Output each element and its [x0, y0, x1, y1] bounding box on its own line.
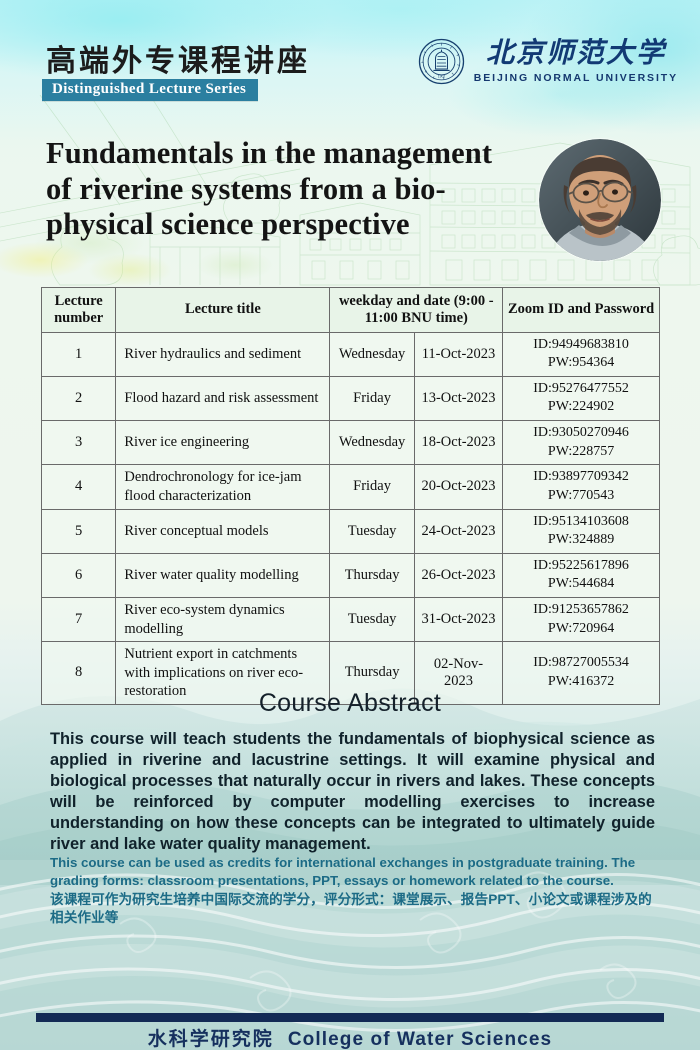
- poster-root: 高端外专课程讲座 Distinguished Lecture Series: [0, 0, 700, 1050]
- table-row: 7River eco-system dynamics modellingTues…: [42, 597, 660, 641]
- credits-english: This course can be used as credits for i…: [50, 855, 635, 888]
- zoom-password: PW:544684: [508, 575, 654, 594]
- college-name-chinese: 水科学研究院: [148, 1029, 274, 1050]
- cell-date: 26-Oct-2023: [414, 553, 502, 597]
- zoom-id: ID:95276477552: [533, 381, 629, 396]
- header-lecture-number: Lecture number: [42, 288, 116, 333]
- footer-divider-bar: [36, 1013, 664, 1022]
- cell-date: 18-Oct-2023: [414, 421, 502, 465]
- cell-weekday: Tuesday: [330, 509, 414, 553]
- cell-lecture-title: River water quality modelling: [116, 553, 330, 597]
- table-row: 4Dendrochronology for ice-jam flood char…: [42, 465, 660, 509]
- university-name: 北京师范大学 BEIJING NORMAL UNIVERSITY: [474, 40, 678, 84]
- cell-lecture-number: 6: [42, 553, 116, 597]
- zoom-id: ID:98727005534: [533, 655, 629, 670]
- zoom-password: PW:770543: [508, 487, 654, 506]
- zoom-id: ID:94949683810: [533, 337, 629, 352]
- table-head: Lecture number Lecture title weekday and…: [42, 288, 660, 333]
- zoom-password: PW:224902: [508, 398, 654, 417]
- title-line-2: of riverine systems from a bio-: [46, 172, 524, 208]
- college-name-english: College of Water Sciences: [288, 1029, 552, 1050]
- poster-header: 高端外专课程讲座 Distinguished Lecture Series: [0, 0, 700, 115]
- cell-weekday: Tuesday: [330, 597, 414, 641]
- table-body: 1River hydraulics and sedimentWednesday1…: [42, 332, 660, 704]
- lecture-schedule-table-wrapper: Lecture number Lecture title weekday and…: [41, 287, 660, 705]
- cell-date: 31-Oct-2023: [414, 597, 502, 641]
- cell-weekday: Wednesday: [330, 332, 414, 376]
- cell-zoom-credentials: ID:93897709342PW:770543: [503, 465, 660, 509]
- zoom-password: PW:954364: [508, 354, 654, 373]
- zoom-id: ID:91253657862: [533, 602, 629, 617]
- svg-text:1902: 1902: [437, 75, 445, 79]
- cell-zoom-credentials: ID:95225617896PW:544684: [503, 553, 660, 597]
- title-line-3: physical science perspective: [46, 207, 524, 243]
- zoom-password: PW:324889: [508, 531, 654, 550]
- table-row: 1River hydraulics and sedimentWednesday1…: [42, 332, 660, 376]
- zoom-id: ID:95225617896: [533, 558, 629, 573]
- table-row: 2Flood hazard and risk assessmentFriday1…: [42, 376, 660, 420]
- zoom-id: ID:93050270946: [533, 425, 629, 440]
- university-logo: 1902 北京师范大学 BEIJING NORMAL UNIVERSITY: [418, 38, 678, 85]
- cell-weekday: Friday: [330, 376, 414, 420]
- cell-lecture-title: River eco-system dynamics modelling: [116, 597, 330, 641]
- cell-date: 24-Oct-2023: [414, 509, 502, 553]
- cell-zoom-credentials: ID:94949683810PW:954364: [503, 332, 660, 376]
- university-name-chinese: 北京师范大学: [486, 40, 666, 68]
- cell-date: 20-Oct-2023: [414, 465, 502, 509]
- cell-lecture-title: River ice engineering: [116, 421, 330, 465]
- cell-zoom-credentials: ID:93050270946PW:228757: [503, 421, 660, 465]
- credits-chinese: 该课程可作为研究生培养中国际交流的学分，评分形式：课堂展示、报告PPT、小论文或…: [50, 891, 655, 927]
- university-name-english: BEIJING NORMAL UNIVERSITY: [474, 72, 678, 84]
- series-title-english-banner: Distinguished Lecture Series: [42, 79, 258, 101]
- zoom-password: PW:720964: [508, 620, 654, 639]
- cell-zoom-credentials: ID:91253657862PW:720964: [503, 597, 660, 641]
- lecture-main-title: Fundamentals in the management of riveri…: [46, 136, 524, 243]
- header-lecture-title: Lecture title: [116, 288, 330, 333]
- cell-weekday: Friday: [330, 465, 414, 509]
- cell-weekday: Thursday: [330, 553, 414, 597]
- cell-weekday: Wednesday: [330, 421, 414, 465]
- series-title-chinese: 高端外专课程讲座: [46, 36, 310, 80]
- cell-lecture-title: Dendrochronology for ice-jam flood chara…: [116, 465, 330, 509]
- cell-lecture-number: 7: [42, 597, 116, 641]
- cell-zoom-credentials: ID:95276477552PW:224902: [503, 376, 660, 420]
- header-zoom-id-password: Zoom ID and Password: [503, 288, 660, 333]
- cell-lecture-title: Flood hazard and risk assessment: [116, 376, 330, 420]
- table-row: 3River ice engineeringWednesday18-Oct-20…: [42, 421, 660, 465]
- header-weekday-date: weekday and date (9:00 - 11:00 BNU time): [330, 288, 503, 333]
- cell-lecture-number: 1: [42, 332, 116, 376]
- zoom-id: ID:93897709342: [533, 469, 629, 484]
- table-header-row: Lecture number Lecture title weekday and…: [42, 288, 660, 333]
- table-row: 5River conceptual modelsTuesday24-Oct-20…: [42, 509, 660, 553]
- cell-lecture-number: 4: [42, 465, 116, 509]
- footer-college-name: 水科学研究院College of Water Sciences: [0, 1024, 700, 1050]
- course-abstract-body: This course will teach students the fund…: [50, 729, 655, 855]
- lecture-schedule-table: Lecture number Lecture title weekday and…: [41, 287, 660, 705]
- title-line-1: Fundamentals in the management: [46, 136, 524, 172]
- course-abstract-heading: Course Abstract: [0, 689, 700, 718]
- zoom-id: ID:95134103608: [533, 514, 629, 529]
- cell-date: 13-Oct-2023: [414, 376, 502, 420]
- cell-lecture-title: River hydraulics and sediment: [116, 332, 330, 376]
- cell-lecture-number: 5: [42, 509, 116, 553]
- cell-zoom-credentials: ID:95134103608PW:324889: [503, 509, 660, 553]
- speaker-portrait: [539, 139, 661, 261]
- course-credits-note: This course can be used as credits for i…: [50, 854, 655, 928]
- cell-lecture-number: 3: [42, 421, 116, 465]
- bnu-seal-icon: 1902: [418, 38, 465, 85]
- zoom-password: PW:228757: [508, 443, 654, 462]
- table-row: 6River water quality modellingThursday26…: [42, 553, 660, 597]
- cell-date: 11-Oct-2023: [414, 332, 502, 376]
- cell-lecture-number: 2: [42, 376, 116, 420]
- cell-lecture-title: River conceptual models: [116, 509, 330, 553]
